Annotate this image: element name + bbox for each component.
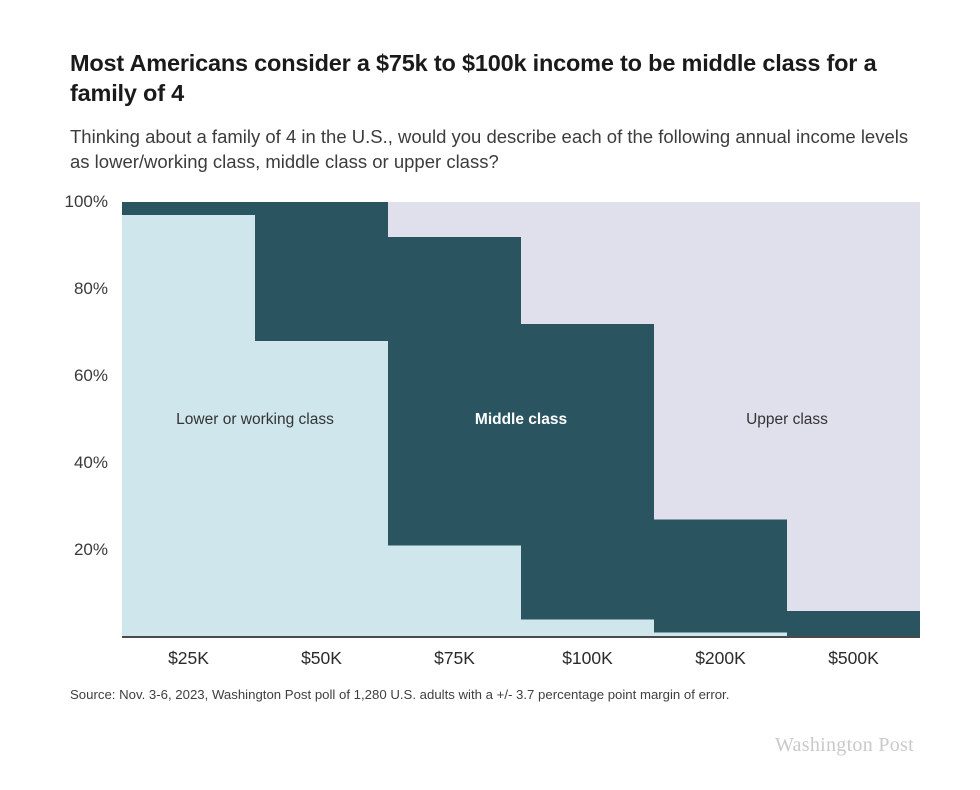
x-axis-tick-label: $75K (388, 648, 521, 669)
y-axis-tick-label: 80% (48, 279, 108, 299)
chart-page: Most Americans consider a $75k to $100k … (0, 0, 980, 790)
source-note: Source: Nov. 3-6, 2023, Washington Post … (70, 686, 930, 703)
series-label-lower: Lower or working class (176, 411, 334, 429)
y-axis-tick-label: 40% (48, 453, 108, 473)
washington-post-logo: Washington Post (775, 734, 914, 757)
x-axis-tick-label: $500K (787, 648, 920, 669)
chart-subtitle: Thinking about a family of 4 in the U.S.… (70, 125, 925, 174)
x-axis-tick-label: $100K (521, 648, 654, 669)
x-axis-tick-label: $25K (122, 648, 255, 669)
x-axis-tick-label: $50K (255, 648, 388, 669)
page-title: Most Americans consider a $75k to $100k … (70, 48, 930, 108)
x-axis-baseline (122, 636, 920, 638)
y-axis-tick-label: 20% (48, 540, 108, 560)
y-axis-tick-label: 60% (48, 366, 108, 386)
x-axis-tick-label: $200K (654, 648, 787, 669)
y-axis-tick-label: 100% (48, 192, 108, 212)
series-label-middle: Middle class (475, 411, 567, 429)
series-label-upper: Upper class (746, 411, 828, 429)
